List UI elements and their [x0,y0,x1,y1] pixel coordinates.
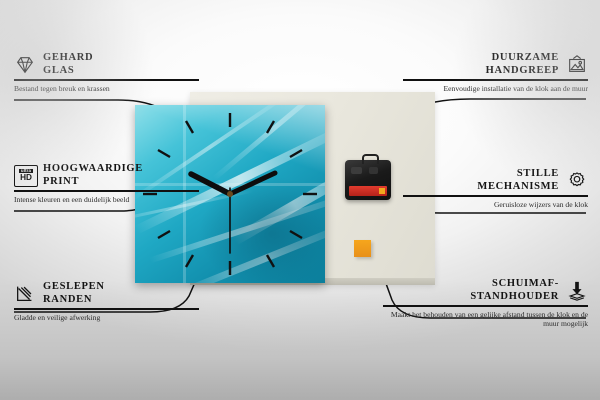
feature-title: DUURZAMEHANDGREEP [486,52,559,77]
beveled-edges-icon [14,283,36,305]
feature-title: GEHARDGLAS [43,52,93,77]
battery [349,186,387,196]
divider [403,195,588,197]
feature-geslepen-randen: GESLEPENRANDEN Gladde en veilige afwerki… [14,281,199,322]
diamond-icon [14,54,36,76]
divider [383,305,588,307]
foam-stamp-icon [566,280,588,302]
feature-title: GESLEPENRANDEN [43,281,105,306]
ultra-hd-icon: ultra HD [14,165,36,187]
clock-minute-hand [230,173,275,194]
divider [403,79,588,81]
feature-schuimaf-standhouder: SCHUIMAF-STANDHOUDER Maakt het behouden … [383,278,588,329]
divider [14,79,199,81]
picture-frame-icon [566,54,588,76]
feature-description: Maakt het behouden van een gelijke afsta… [383,310,588,329]
feature-title: HOOGWAARDIGEPRINT [43,163,143,188]
feature-duurzame-handgreep: DUURZAMEHANDGREEP Eenvoudige installatie… [403,52,588,93]
feature-description: Eenvoudige installatie van de klok aan d… [403,84,588,94]
feature-hoogwaardige-print: ultra HD HOOGWAARDIGEPRINT Intense kleur… [14,163,199,204]
feature-stille-mechanisme: STILLEMECHANISME Geruisloze wijzers van … [403,168,588,209]
divider [14,190,199,192]
foam-spacer-pad [354,240,371,257]
infographic-canvas: GEHARDGLAS Bestand tegen breuk en krasse… [0,0,600,400]
feature-description: Gladde en veilige afwerking [14,313,199,323]
feature-title: SCHUIMAF-STANDHOUDER [470,278,559,303]
feature-gehard-glas: GEHARDGLAS Bestand tegen breuk en krasse… [14,52,199,93]
clock-center-hub [227,191,233,197]
feature-description: Bestand tegen breuk en krassen [14,84,199,94]
gear-icon [566,170,588,192]
feature-title: STILLEMECHANISME [477,168,559,193]
clock-mechanism [345,160,391,200]
feature-description: Geruisloze wijzers van de klok [403,200,588,210]
divider [14,308,199,310]
feature-description: Intense kleuren en een duidelijk beeld [14,195,199,205]
